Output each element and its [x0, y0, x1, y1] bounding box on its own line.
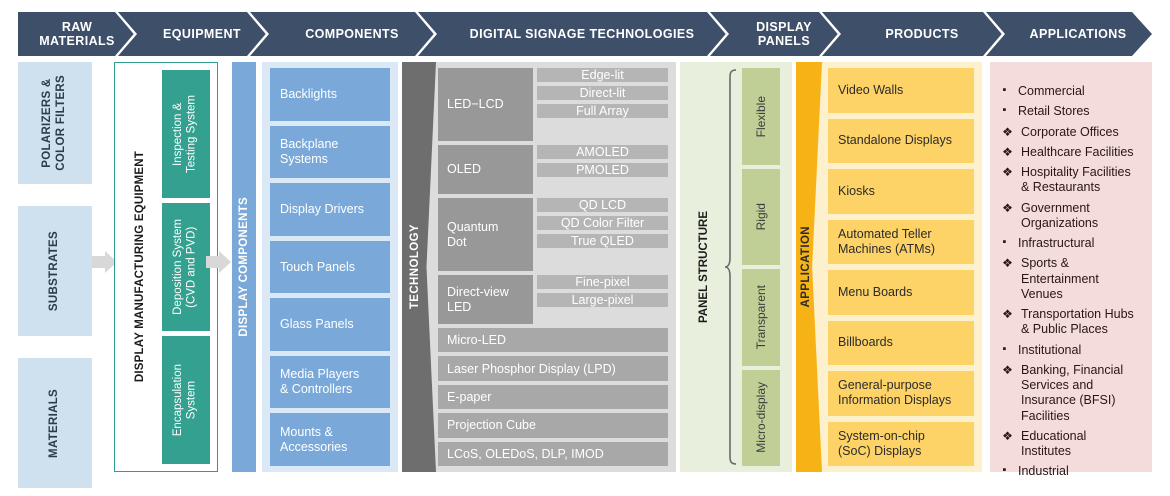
- technology-label: Projection Cube: [447, 418, 536, 432]
- flow-arrow-equipment-to-components: [206, 249, 232, 275]
- header-segment-4[interactable]: DISPLAYPANELS: [728, 12, 840, 56]
- technology-subtype-box[interactable]: Large-pixel: [537, 293, 668, 307]
- component-box[interactable]: Mounts &Accessories: [270, 413, 390, 466]
- technology-parent-box[interactable]: OLED: [438, 145, 533, 194]
- technology-subtype-label: Large-pixel: [572, 293, 634, 307]
- component-label: Mounts &Accessories: [280, 425, 347, 455]
- technology-subtype-label: Direct-lit: [580, 86, 626, 100]
- raw-material-label: SUBSTRATES: [48, 231, 62, 311]
- raw-material-label: MATERIALS: [48, 389, 62, 458]
- application-label: Commercial: [1018, 84, 1085, 99]
- application-list-item[interactable]: ❖Sports &EntertainmentVenues: [998, 256, 1142, 302]
- technology-subtype-list: AMOLEDPMOLED: [537, 145, 668, 194]
- application-list-item[interactable]: ❖Corporate Offices: [998, 125, 1142, 140]
- square-bullet-icon: ▪: [998, 104, 1011, 117]
- component-box[interactable]: Touch Panels: [270, 241, 390, 294]
- technology-subtype-box[interactable]: QD Color Filter: [537, 216, 668, 230]
- application-list-item[interactable]: ❖Banking, FinancialServices andInsurance…: [998, 363, 1142, 424]
- component-box[interactable]: Glass Panels: [270, 298, 390, 351]
- value-chain-header: RAWMATERIALSEQUIPMENTCOMPONENTSDIGITAL S…: [18, 12, 1152, 56]
- applications-list: ▪Commercial▪Retail Stores❖Corporate Offi…: [998, 84, 1142, 480]
- application-label: Transportation Hubs& Public Places: [1021, 307, 1134, 338]
- technology-parent-label: QuantumDot: [447, 220, 498, 250]
- square-bullet-icon: ▪: [998, 84, 1011, 97]
- technology-group: OLEDAMOLEDPMOLED: [438, 145, 668, 194]
- technology-group: Direct-viewLEDFine-pixelLarge-pixel: [438, 275, 668, 324]
- technology-subtype-label: QD LCD: [579, 198, 626, 212]
- header-segment-label: COMPONENTS: [299, 27, 405, 41]
- application-label: Hospitality Facilities& Restaurants: [1021, 165, 1131, 196]
- application-list-item[interactable]: ❖GovernmentOrganizations: [998, 201, 1142, 232]
- product-label: Standalone Displays: [838, 133, 952, 148]
- technology-box[interactable]: Micro-LED: [438, 328, 668, 352]
- application-label: Infrastructural: [1018, 236, 1094, 251]
- product-label: Billboards: [838, 335, 893, 350]
- component-box[interactable]: Display Drivers: [270, 183, 390, 236]
- technology-parent-label: OLED: [447, 162, 481, 177]
- header-segment-1[interactable]: EQUIPMENT: [136, 12, 268, 56]
- application-label: EducationalInstitutes: [1021, 429, 1086, 460]
- product-box[interactable]: Kiosks: [828, 169, 974, 214]
- technology-box[interactable]: Projection Cube: [438, 413, 668, 437]
- square-bullet-icon: ▪: [998, 343, 1011, 356]
- header-segment-5[interactable]: PRODUCTS: [840, 12, 1004, 56]
- application-label: GovernmentOrganizations: [1021, 201, 1098, 232]
- application-list-item[interactable]: ❖EducationalInstitutes: [998, 429, 1142, 460]
- technology-subtype-label: AMOLED: [576, 145, 629, 159]
- application-label: Corporate Offices: [1021, 125, 1119, 140]
- application-list-item[interactable]: ▪Commercial: [998, 84, 1142, 99]
- equipment-label: Deposition System(CVD and PVD): [172, 219, 199, 315]
- technology-subtype-box[interactable]: QD LCD: [537, 198, 668, 212]
- product-box[interactable]: System-on-chip(SoC) Displays: [828, 422, 974, 467]
- technology-parent-label: Direct-viewLED: [447, 285, 509, 315]
- technology-subtype-box[interactable]: True QLED: [537, 234, 668, 248]
- product-box[interactable]: General-purposeInformation Displays: [828, 371, 974, 416]
- technology-subtype-label: Fine-pixel: [575, 275, 629, 289]
- equipment-section-label: DISPLAY MANUFACTURING EQUIPMENT: [121, 63, 159, 471]
- technology-subtype-box[interactable]: Edge-lit: [537, 68, 668, 82]
- technology-subtype-box[interactable]: Direct-lit: [537, 86, 668, 100]
- square-bullet-icon: ▪: [998, 464, 1011, 477]
- header-segment-label: PRODUCTS: [879, 27, 964, 41]
- technology-subtype-box[interactable]: Full Array: [537, 104, 668, 118]
- technology-label: Micro-LED: [447, 333, 506, 347]
- panel-structure-box[interactable]: Rigid: [742, 169, 780, 266]
- product-box[interactable]: Billboards: [828, 321, 974, 366]
- application-list-item[interactable]: ❖Healthcare Facilities: [998, 145, 1142, 160]
- technology-label: Laser Phosphor Display (LPD): [447, 362, 616, 376]
- equipment-label: Inspection &Testing System: [172, 95, 199, 173]
- application-label: Healthcare Facilities: [1021, 145, 1134, 160]
- panel-structure-box[interactable]: Flexible: [742, 68, 780, 165]
- square-bullet-icon: ▪: [998, 236, 1011, 249]
- applications-column: ▪Commercial▪Retail Stores❖Corporate Offi…: [990, 62, 1152, 472]
- component-label: Backlights: [280, 87, 337, 102]
- application-label: Institutional: [1018, 343, 1081, 358]
- technology-subtype-box[interactable]: PMOLED: [537, 163, 668, 177]
- diamond-bullet-icon: ❖: [1001, 429, 1014, 444]
- application-list-item[interactable]: ❖Transportation Hubs& Public Places: [998, 307, 1142, 338]
- product-label: Menu Boards: [838, 285, 912, 300]
- component-label: Glass Panels: [280, 317, 354, 332]
- components-section-label: DISPLAY COMPONENTS: [232, 62, 256, 472]
- panel-structure-label: Transparent: [754, 285, 768, 349]
- technology-parent-box[interactable]: LED−LCD: [438, 68, 533, 141]
- raw-material-box[interactable]: MATERIALS: [18, 358, 92, 488]
- diamond-bullet-icon: ❖: [1001, 363, 1014, 378]
- technology-label: LCoS, OLEDoS, DLP, IMOD: [447, 447, 604, 461]
- product-label: General-purposeInformation Displays: [838, 378, 951, 408]
- panel-structure-box[interactable]: Micro-display: [742, 370, 780, 467]
- technology-box[interactable]: E-paper: [438, 385, 668, 409]
- diamond-bullet-icon: ❖: [1001, 145, 1014, 160]
- technology-parent-box[interactable]: QuantumDot: [438, 198, 533, 271]
- technology-subtype-label: True QLED: [571, 234, 634, 248]
- components-column: BacklightsBackplaneSystemsDisplay Driver…: [262, 62, 398, 472]
- product-box[interactable]: Standalone Displays: [828, 119, 974, 164]
- application-list-item[interactable]: ▪Industrial: [998, 464, 1142, 479]
- technology-subtype-label: Edge-lit: [581, 68, 623, 82]
- header-segment-0[interactable]: RAWMATERIALS: [18, 12, 136, 56]
- diamond-bullet-icon: ❖: [1001, 165, 1014, 180]
- raw-material-box[interactable]: POLARIZERS &COLOR FILTERS: [18, 62, 92, 184]
- header-segment-label: DIGITAL SIGNAGE TECHNOLOGIES: [464, 27, 701, 41]
- technology-group: LED−LCDEdge-litDirect-litFull Array: [438, 68, 668, 141]
- technology-subtype-list: QD LCDQD Color FilterTrue QLED: [537, 198, 668, 271]
- equipment-label: EncapsulationSystem: [172, 364, 199, 436]
- technology-subtype-box[interactable]: Fine-pixel: [537, 275, 668, 289]
- header-segment-label: EQUIPMENT: [157, 27, 247, 41]
- product-box[interactable]: Automated TellerMachines (ATMs): [828, 220, 974, 265]
- header-segment-label: APPLICATIONS: [1024, 27, 1133, 41]
- panel-structure-label: Rigid: [754, 203, 768, 230]
- header-segment-label: DISPLAYPANELS: [750, 20, 818, 49]
- application-list-item[interactable]: ❖Hospitality Facilities& Restaurants: [998, 165, 1142, 196]
- equipment-box[interactable]: Deposition System(CVD and PVD): [162, 203, 210, 331]
- technology-subtype-box[interactable]: AMOLED: [537, 145, 668, 159]
- component-label: BackplaneSystems: [280, 137, 338, 167]
- header-segment-6[interactable]: APPLICATIONS: [1004, 12, 1152, 56]
- technology-box[interactable]: LCoS, OLEDoS, DLP, IMOD: [438, 442, 668, 466]
- equipment-box[interactable]: EncapsulationSystem: [162, 336, 210, 464]
- product-box[interactable]: Video Walls: [828, 68, 974, 113]
- product-box[interactable]: Menu Boards: [828, 270, 974, 315]
- diamond-bullet-icon: ❖: [1001, 307, 1014, 322]
- technology-subtype-label: Full Array: [576, 104, 629, 118]
- diamond-bullet-icon: ❖: [1001, 201, 1014, 216]
- product-label: Kiosks: [838, 184, 875, 199]
- technology-label: E-paper: [447, 390, 491, 404]
- diamond-bullet-icon: ❖: [1001, 256, 1014, 271]
- panel-structure-brace-icon: [724, 68, 738, 466]
- value-chain-diagram: RAWMATERIALSEQUIPMENTCOMPONENTSDIGITAL S…: [0, 0, 1170, 496]
- panel-structure-column: PANEL STRUCTURE FlexibleRigidTransparent…: [680, 62, 792, 472]
- technology-box[interactable]: Laser Phosphor Display (LPD): [438, 356, 668, 380]
- component-label: Touch Panels: [280, 260, 355, 275]
- raw-material-box[interactable]: SUBSTRATES: [18, 206, 92, 336]
- technology-parent-label: LED−LCD: [447, 97, 504, 112]
- equipment-column: DISPLAY MANUFACTURING EQUIPMENT Inspecti…: [114, 62, 218, 472]
- panel-structure-box[interactable]: Transparent: [742, 269, 780, 366]
- panel-structure-label: Flexible: [754, 96, 768, 137]
- products-column: Video WallsStandalone DisplaysKiosksAuto…: [828, 68, 974, 466]
- panel-structure-label: Micro-display: [754, 382, 768, 453]
- header-segment-2[interactable]: COMPONENTS: [268, 12, 436, 56]
- equipment-box[interactable]: Inspection &Testing System: [162, 70, 210, 198]
- application-label: Retail Stores: [1018, 104, 1090, 119]
- header-segment-3[interactable]: DIGITAL SIGNAGE TECHNOLOGIES: [436, 12, 728, 56]
- component-box[interactable]: BackplaneSystems: [270, 126, 390, 179]
- component-label: Display Drivers: [280, 202, 364, 217]
- component-box[interactable]: Backlights: [270, 68, 390, 121]
- panel-structure-section-label: PANEL STRUCTURE: [684, 62, 724, 472]
- component-label: Media Players& Controllers: [280, 367, 359, 397]
- product-label: Video Walls: [838, 83, 903, 98]
- application-label: Industrial: [1018, 464, 1069, 479]
- diamond-bullet-icon: ❖: [1001, 125, 1014, 140]
- technology-column: LED−LCDEdge-litDirect-litFull ArrayOLEDA…: [412, 62, 676, 472]
- header-segment-label: RAWMATERIALS: [33, 20, 121, 49]
- technology-group: QuantumDotQD LCDQD Color FilterTrue QLED: [438, 198, 668, 271]
- technology-parent-box[interactable]: Direct-viewLED: [438, 275, 533, 324]
- technology-subtype-label: QD Color Filter: [561, 216, 644, 230]
- component-box[interactable]: Media Players& Controllers: [270, 356, 390, 409]
- technology-subtype-list: Edge-litDirect-litFull Array: [537, 68, 668, 141]
- product-label: Automated TellerMachines (ATMs): [838, 227, 935, 257]
- application-list-item[interactable]: ▪Institutional: [998, 343, 1142, 358]
- application-label: Banking, FinancialServices andInsurance …: [1021, 363, 1123, 424]
- application-label: Sports &EntertainmentVenues: [1021, 256, 1099, 302]
- technology-subtype-label: PMOLED: [576, 163, 629, 177]
- application-list-item[interactable]: ▪Retail Stores: [998, 104, 1142, 119]
- raw-materials-column: POLARIZERS &COLOR FILTERSSUBSTRATESMATER…: [18, 62, 92, 488]
- product-label: System-on-chip(SoC) Displays: [838, 429, 925, 459]
- application-list-item[interactable]: ▪Infrastructural: [998, 236, 1142, 251]
- raw-material-label: POLARIZERS &COLOR FILTERS: [41, 75, 69, 171]
- technology-subtype-list: Fine-pixelLarge-pixel: [537, 275, 668, 324]
